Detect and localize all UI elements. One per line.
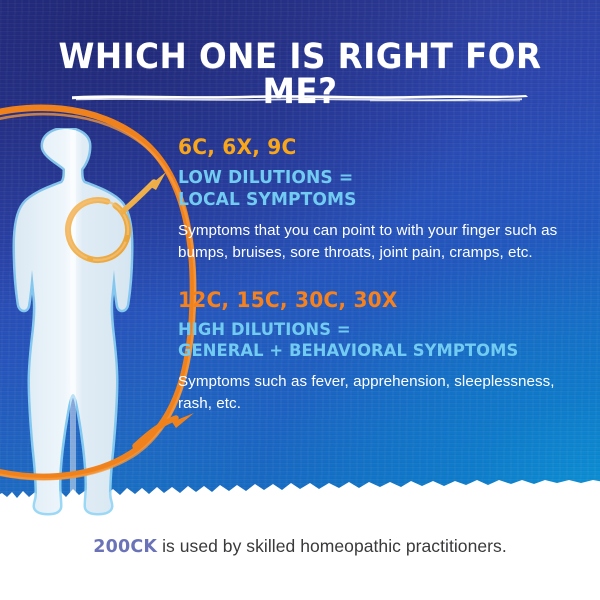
subheading-low: LOW DILUTIONS = LOCAL SYMPTOMS [178, 167, 566, 211]
caption-highlight: 200CK [93, 537, 157, 557]
illustration-group [0, 128, 178, 528]
infographic-canvas: WHICH ONE IS RIGHT FOR ME? [0, 0, 600, 600]
subheading-high-line2: GENERAL + BEHAVIORAL SYMPTOMS [178, 341, 566, 362]
block-low-dilutions: 6C, 6X, 9C LOW DILUTIONS = LOCAL SYMPTOM… [178, 136, 586, 264]
caption-rest: is used by skilled homeopathic practitio… [157, 536, 507, 556]
block-spacer [178, 264, 586, 289]
body-text-high: Symptoms such as fever, apprehension, sl… [178, 371, 586, 415]
dose-label-low: 6C, 6X, 9C [178, 136, 570, 160]
block-high-dilutions: 12C, 15C, 30C, 30X HIGH DILUTIONS = GENE… [178, 289, 586, 415]
subheading-low-line1: LOW DILUTIONS = [178, 167, 566, 189]
title-underline-brushstroke [70, 92, 530, 104]
subheading-high-line1: HIGH DILUTIONS = [178, 320, 566, 341]
subheading-high: HIGH DILUTIONS = GENERAL + BEHAVIORAL SY… [178, 320, 566, 362]
body-text-low: Symptoms that you can point to with your… [178, 220, 586, 264]
subheading-low-line2: LOCAL SYMPTOMS [178, 189, 566, 211]
gold-shoulder-circle-annotation [46, 170, 166, 280]
dilution-blocks: 6C, 6X, 9C LOW DILUTIONS = LOCAL SYMPTOM… [178, 136, 586, 415]
footer-caption: 200CK is used by skilled homeopathic pra… [0, 536, 600, 557]
dose-label-high: 12C, 15C, 30C, 30X [178, 289, 570, 313]
